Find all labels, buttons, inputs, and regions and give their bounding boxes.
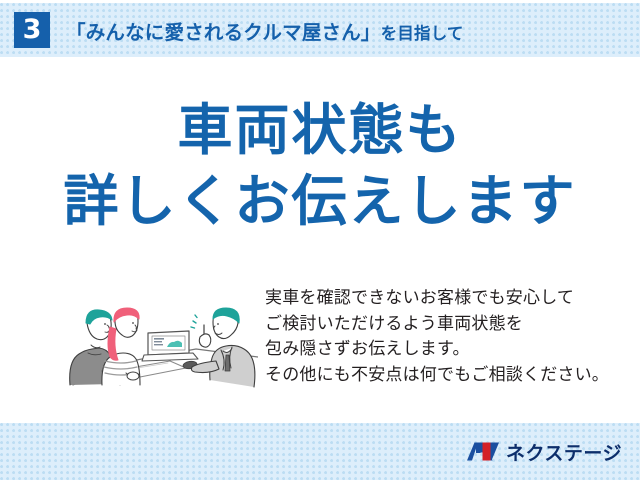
figure-staff bbox=[191, 308, 255, 387]
body-copy-line-1: 実車を確認できないお客様でも安心して bbox=[265, 286, 615, 312]
page-headline: 車両状態も 詳しくお伝えします bbox=[0, 98, 640, 234]
promo-banner: 3 「みんなに愛されるクルマ屋さん」 を目指して 車両状態も 詳しくお伝えします bbox=[0, 0, 640, 480]
header-title-main: 「みんなに愛されるクルマ屋さん」 bbox=[66, 16, 381, 45]
footer-band: ネクステージ bbox=[0, 423, 640, 480]
consultation-illustration-svg bbox=[58, 277, 258, 389]
body-copy: 実車を確認できないお客様でも安心して ご検討いただけるよう車両状態を 包み隠さず… bbox=[265, 286, 615, 388]
brand-logo: ネクステージ bbox=[466, 438, 622, 465]
consultation-illustration bbox=[58, 277, 258, 389]
body-copy-line-4: その他にも不安点は何でもご相談ください。 bbox=[265, 363, 615, 389]
header-title: 「みんなに愛されるクルマ屋さん」 を目指して bbox=[66, 16, 464, 45]
headline-line-2: 詳しくお伝えします bbox=[0, 169, 640, 234]
body-copy-line-3: 包み隠さずお伝えします。 bbox=[265, 337, 615, 363]
header-band: 3 「みんなに愛されるクルマ屋さん」 を目指して bbox=[0, 3, 640, 57]
nextage-n-mark-icon bbox=[466, 440, 500, 464]
headline-line-1: 車両状態も bbox=[0, 98, 640, 163]
brand-logo-text: ネクステージ bbox=[506, 438, 622, 465]
laptop-icon bbox=[142, 331, 198, 361]
step-number-badge: 3 bbox=[14, 12, 50, 48]
body-copy-line-2: ご検討いただけるよう車両状態を bbox=[265, 312, 615, 338]
header-title-suffix: を目指して bbox=[381, 20, 464, 44]
